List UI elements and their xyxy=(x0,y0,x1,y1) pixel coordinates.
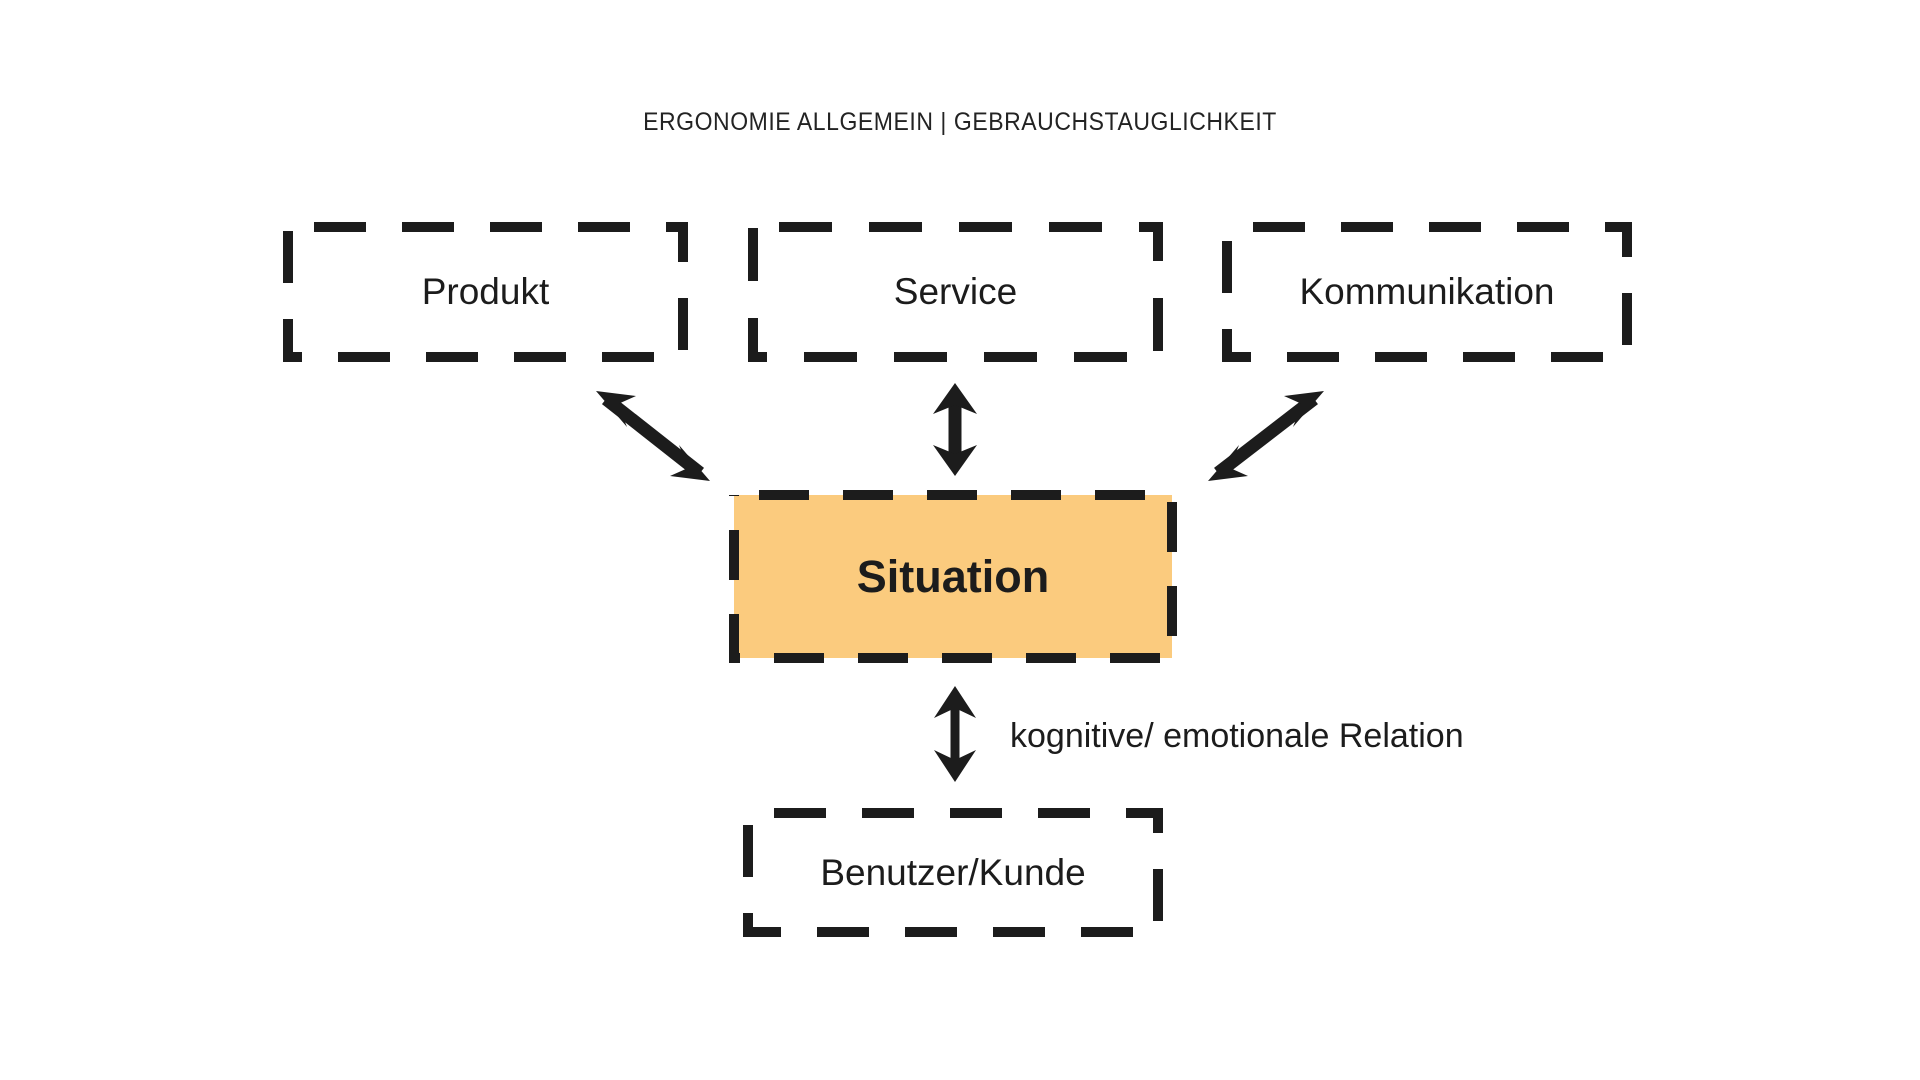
connector-kommunikation-situation xyxy=(1205,391,1324,481)
connector-produkt-situation xyxy=(596,391,710,481)
node-label-service: Service xyxy=(894,271,1017,313)
node-produkt[interactable]: Produkt xyxy=(283,222,688,362)
node-label-benutzer-kunde: Benutzer/Kunde xyxy=(820,852,1085,894)
node-situation[interactable]: Situation xyxy=(729,490,1177,663)
page-title: ERGONOMIE ALLGEMEIN | GEBRAUCHSTAUGLICHK… xyxy=(77,108,1843,137)
node-label-produkt: Produkt xyxy=(422,271,550,313)
node-benutzer-kunde[interactable]: Benutzer/Kunde xyxy=(743,808,1163,937)
node-label-situation: Situation xyxy=(857,551,1049,603)
connector-label-kognitive-emotionale-relation: kognitive/ emotionale Relation xyxy=(1010,717,1464,756)
node-service[interactable]: Service xyxy=(748,222,1163,362)
connector-situation-benutzer xyxy=(934,686,976,782)
node-kommunikation[interactable]: Kommunikation xyxy=(1222,222,1632,362)
connector-service-situation xyxy=(933,383,977,476)
diagram-canvas: ERGONOMIE ALLGEMEIN | GEBRAUCHSTAUGLICHK… xyxy=(0,0,1920,1080)
node-label-kommunikation: Kommunikation xyxy=(1299,271,1554,313)
